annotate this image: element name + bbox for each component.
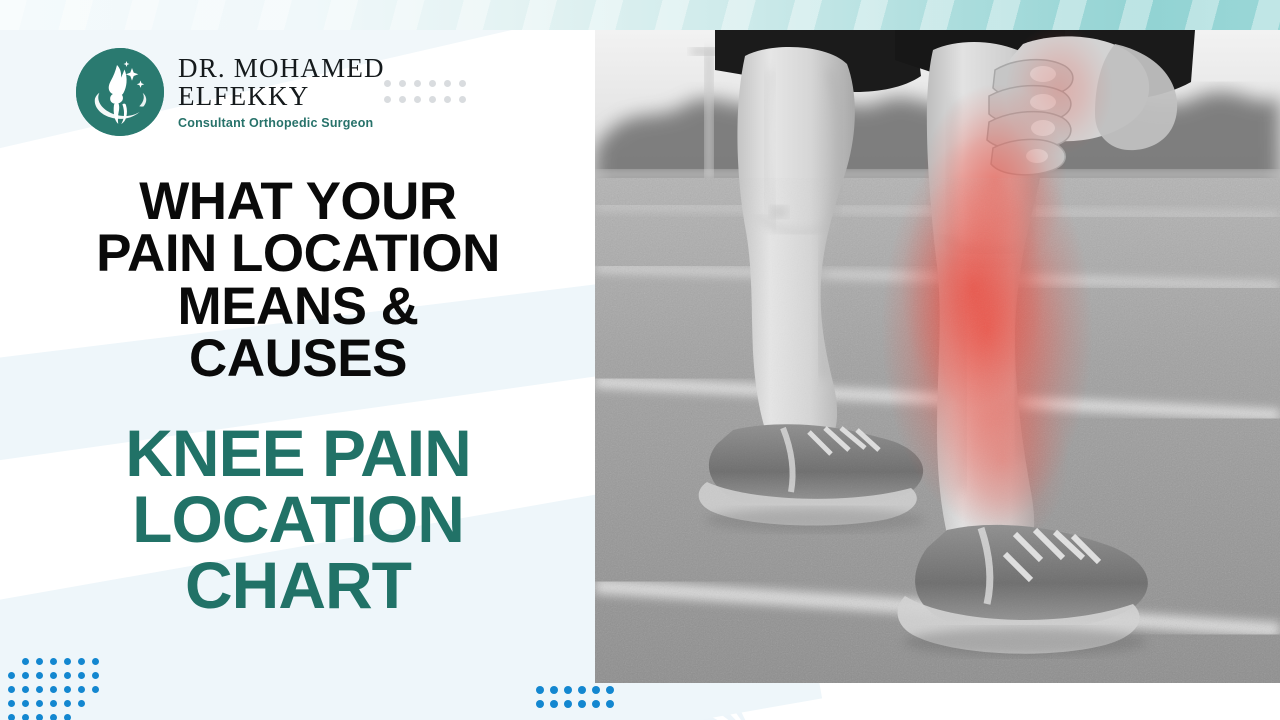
subheadline-line-2: LOCATION <box>0 486 596 552</box>
dot <box>384 96 391 103</box>
subheadline-line-3: CHART <box>0 552 596 618</box>
headline-line-4: CAUSES <box>0 333 596 385</box>
dot <box>414 96 421 103</box>
brand-tagline: Consultant Orthopedic Surgeon <box>178 117 385 130</box>
top-band-rays <box>0 0 1280 30</box>
dot <box>429 96 436 103</box>
header-dot-grid <box>384 80 474 112</box>
poster-canvas: DR. MOHAMED ELFEKKY Consultant Orthopedi… <box>0 0 1280 720</box>
page-subtitle: KNEE PAIN LOCATION CHART <box>0 420 596 618</box>
dot <box>399 80 406 87</box>
brand-name-line1: DR. MOHAMED <box>178 55 385 82</box>
knee-joint-logo-icon <box>76 48 164 136</box>
subheadline-line-1: KNEE PAIN <box>0 420 596 486</box>
dot <box>429 80 436 87</box>
dot <box>414 80 421 87</box>
headline-line-3: MEANS & <box>0 281 596 333</box>
dot <box>459 80 466 87</box>
page-title: WHAT YOUR PAIN LOCATION MEANS & CAUSES <box>0 176 596 386</box>
headline-line-2: PAIN LOCATION <box>0 228 596 280</box>
dot <box>444 80 451 87</box>
dot <box>384 80 391 87</box>
brand-logo-block[interactable]: DR. MOHAMED ELFEKKY Consultant Orthopedi… <box>76 48 385 136</box>
knee-pain-photo <box>595 30 1280 683</box>
headline-line-1: WHAT YOUR <box>0 176 596 228</box>
brand-wordmark: DR. MOHAMED ELFEKKY Consultant Orthopedi… <box>178 55 385 130</box>
dot <box>399 96 406 103</box>
bottom-center-dot-grid <box>536 686 620 714</box>
top-teal-band <box>0 0 1280 30</box>
dot <box>459 96 466 103</box>
bottom-left-dot-grid <box>8 658 106 720</box>
brand-name-line2: ELFEKKY <box>178 83 385 110</box>
dot <box>444 96 451 103</box>
